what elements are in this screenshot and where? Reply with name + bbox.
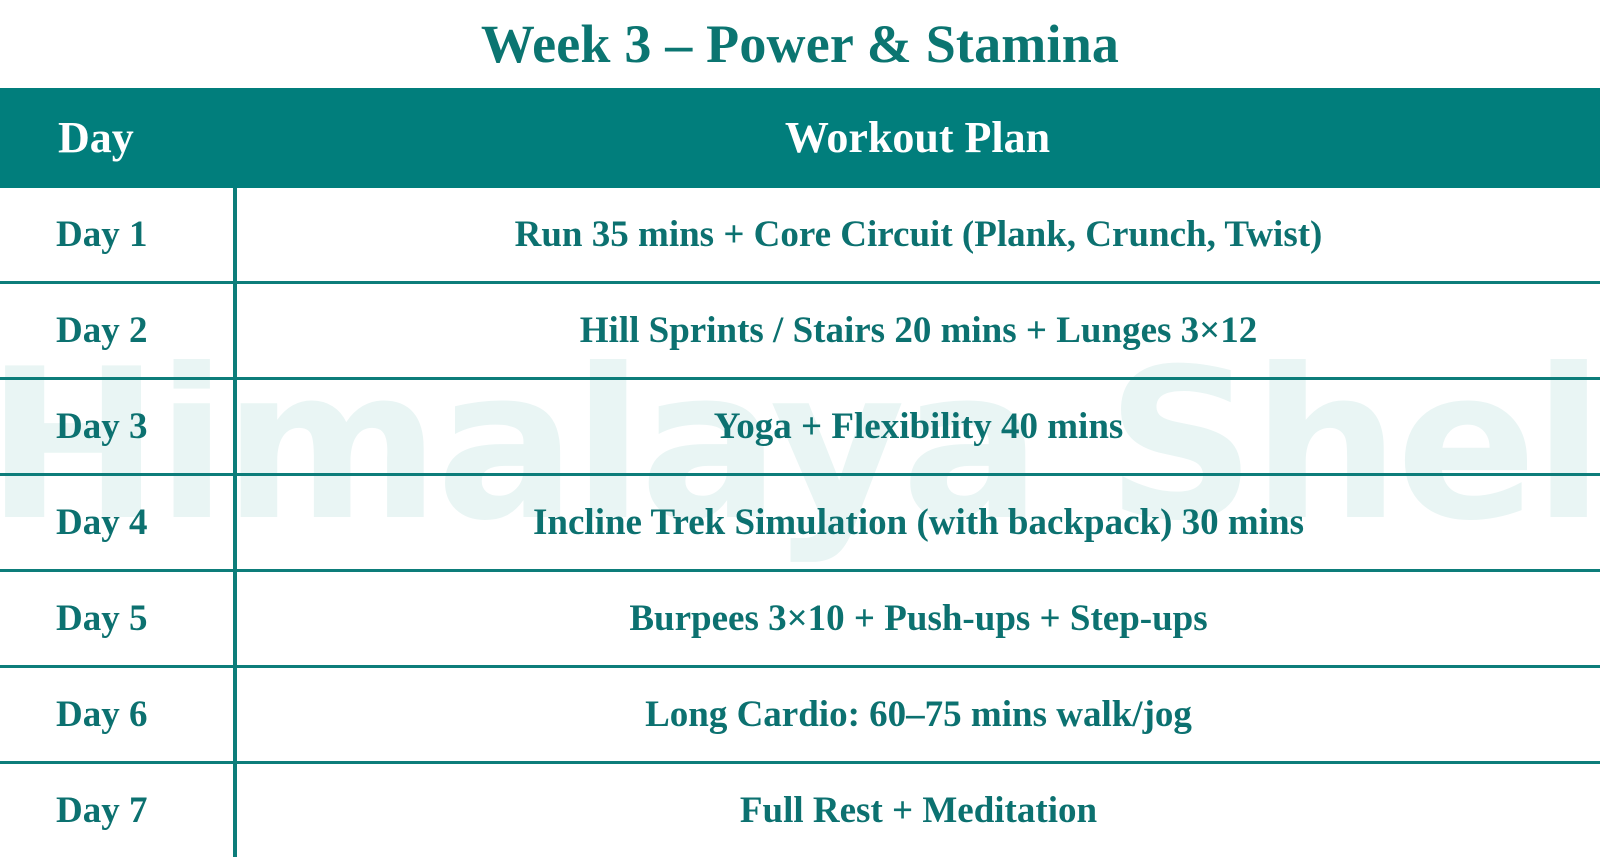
workout-plan-table: Day Workout Plan Day 1 Run 35 mins + Cor…: [0, 88, 1600, 857]
cell-workout-plan: Run 35 mins + Core Circuit (Plank, Crunc…: [235, 188, 1600, 283]
workout-plan-table-wrapper: Day Workout Plan Day 1 Run 35 mins + Cor…: [0, 88, 1600, 857]
table-row: Day 1 Run 35 mins + Core Circuit (Plank,…: [0, 188, 1600, 283]
table-row: Day 7 Full Rest + Meditation: [0, 763, 1600, 858]
cell-workout-plan: Incline Trek Simulation (with backpack) …: [235, 475, 1600, 571]
table-header-row: Day Workout Plan: [0, 88, 1600, 188]
cell-workout-plan: Yoga + Flexibility 40 mins: [235, 379, 1600, 475]
cell-day: Day 1: [0, 188, 235, 283]
cell-workout-plan: Full Rest + Meditation: [235, 763, 1600, 858]
table-row: Day 5 Burpees 3×10 + Push-ups + Step-ups: [0, 571, 1600, 667]
cell-day: Day 7: [0, 763, 235, 858]
cell-day: Day 6: [0, 667, 235, 763]
cell-day: Day 3: [0, 379, 235, 475]
table-body: Day 1 Run 35 mins + Core Circuit (Plank,…: [0, 188, 1600, 857]
cell-workout-plan: Hill Sprints / Stairs 20 mins + Lunges 3…: [235, 283, 1600, 379]
cell-workout-plan: Burpees 3×10 + Push-ups + Step-ups: [235, 571, 1600, 667]
table-row: Day 2 Hill Sprints / Stairs 20 mins + Lu…: [0, 283, 1600, 379]
cell-day: Day 4: [0, 475, 235, 571]
table-row: Day 4 Incline Trek Simulation (with back…: [0, 475, 1600, 571]
column-header-workout-plan: Workout Plan: [235, 88, 1600, 188]
page-title: Week 3 – Power & Stamina: [0, 0, 1600, 88]
workout-plan-page: Himalaya Shelter Week 3 – Power & Stamin…: [0, 0, 1600, 864]
table-header: Day Workout Plan: [0, 88, 1600, 188]
table-row: Day 3 Yoga + Flexibility 40 mins: [0, 379, 1600, 475]
column-header-day: Day: [0, 88, 235, 188]
cell-workout-plan: Long Cardio: 60–75 mins walk/jog: [235, 667, 1600, 763]
cell-day: Day 5: [0, 571, 235, 667]
cell-day: Day 2: [0, 283, 235, 379]
table-row: Day 6 Long Cardio: 60–75 mins walk/jog: [0, 667, 1600, 763]
